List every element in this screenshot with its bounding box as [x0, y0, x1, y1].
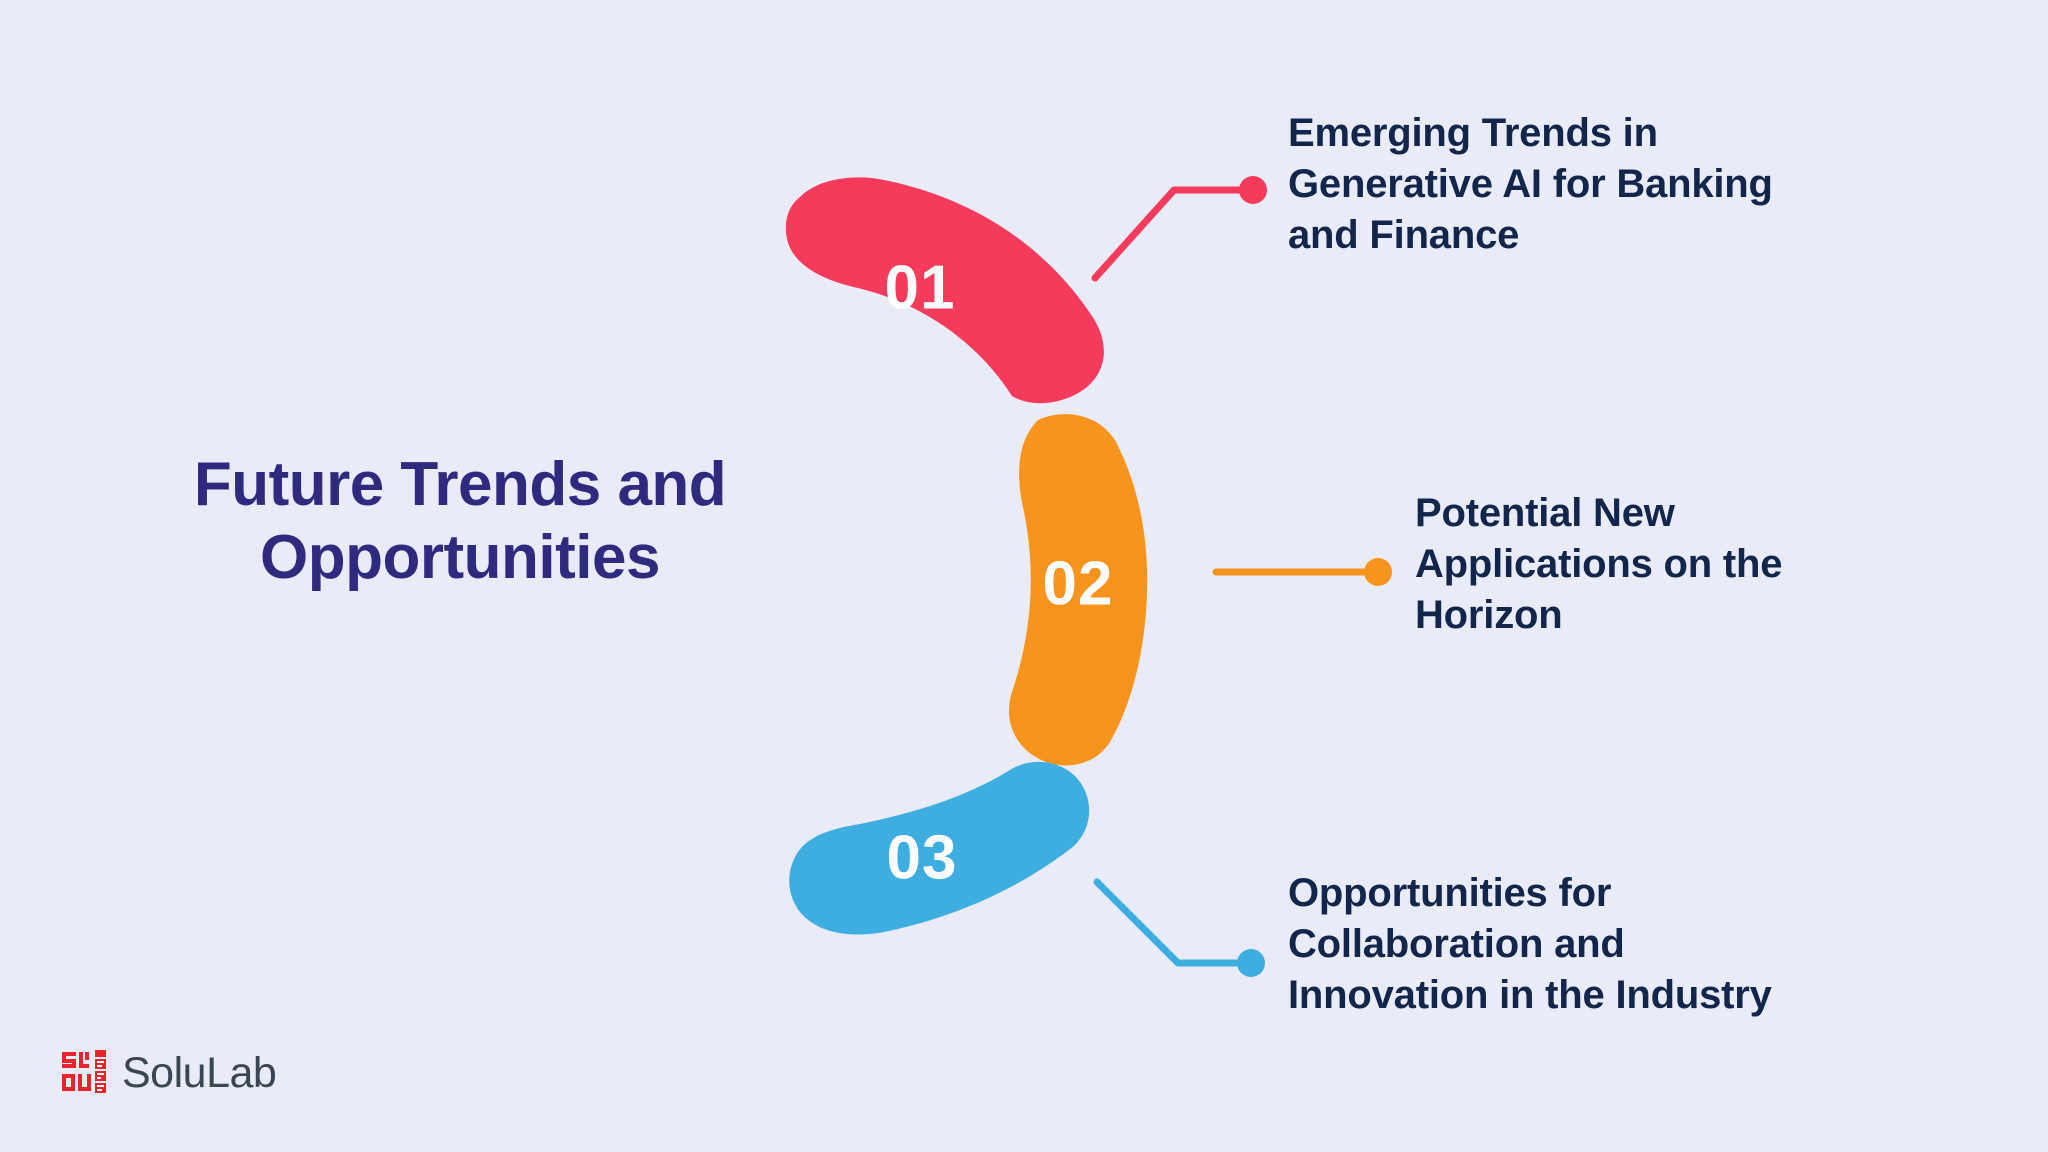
- page-title: Future Trends and Opportunities: [120, 448, 800, 594]
- donut-diagram: 01 02 03: [760, 170, 1200, 970]
- connector-dot-03: [1237, 949, 1265, 977]
- connector-line-02: [1216, 558, 1392, 586]
- donut-segment-02-number: 02: [1043, 549, 1114, 618]
- connector-dot-01: [1239, 176, 1267, 204]
- brand-logo: SoluLab: [62, 1050, 276, 1096]
- item-label-03: Opportunities for Collaboration and Inno…: [1288, 868, 1988, 1020]
- donut-segment-01-number: 01: [885, 253, 956, 322]
- connector-dot-02: [1364, 558, 1392, 586]
- item-label-01: Emerging Trends in Generative AI for Ban…: [1288, 108, 1968, 260]
- brand-wordmark: SoluLab: [122, 1052, 276, 1095]
- slide-canvas: Future Trends and Opportunities 01 02 03: [0, 0, 2048, 1152]
- solulab-mark-icon: [62, 1050, 106, 1096]
- item-label-02: Potential New Applications on the Horizo…: [1415, 488, 1975, 640]
- donut-segment-03-number: 03: [887, 823, 958, 892]
